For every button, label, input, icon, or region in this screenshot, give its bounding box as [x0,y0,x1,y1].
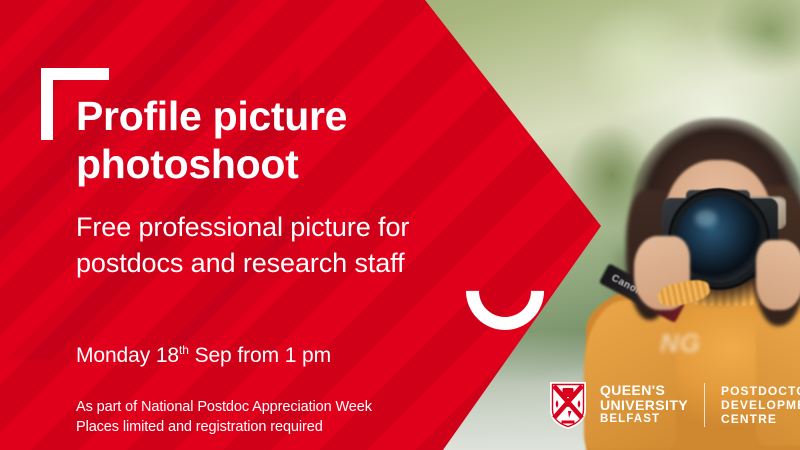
footer-line-1: As part of National Postdoc Appreciation… [76,399,372,415]
queens-university-crest-icon [548,380,588,430]
centre-name: POSTDOCTORAL DEVELOPMENT CENTRE [721,384,800,426]
footer-line-2: Places limited and registration required [76,417,372,437]
logo-lockup: QUEEN'S UNIVERSITY BELFAST POSTDOCTORAL … [548,380,800,430]
event-dateline: Monday 18th Sep from 1 pm [76,343,331,368]
title-line-1: Profile picture [76,93,347,139]
page-subtitle: Free professional picture for postdocs a… [76,209,476,281]
centre-name-line-1: POSTDOCTORAL [721,384,800,398]
university-name-line-1: QUEEN'S [600,383,688,398]
sweater-logo-text: NG [660,328,701,359]
centre-name-line-2: DEVELOPMENT [721,398,800,412]
footer-note: As part of National Postdoc Appreciation… [76,397,372,437]
subtitle-line-2: postdocs and research staff [76,245,476,281]
centre-name-line-3: CENTRE [721,412,800,426]
dateline-suffix: Sep from 1 pm [189,344,331,367]
right-hand [756,240,800,310]
university-name-line-2: UNIVERSITY [600,398,688,413]
university-name-line-3: BELFAST [600,412,688,427]
dateline-ordinal-suffix: th [179,343,189,357]
page-title: Profile picture photoshoot [76,92,476,188]
logo-divider [704,383,705,427]
bracket-vertical-bar [41,68,53,140]
promotional-banner: NG Canon Profile picture photoshoot Free… [0,0,800,450]
dateline-prefix: Monday 18 [76,344,179,367]
title-line-2: photoshoot [76,140,476,188]
university-name: QUEEN'S UNIVERSITY BELFAST [600,383,688,427]
subtitle-line-1: Free professional picture for [76,212,409,242]
